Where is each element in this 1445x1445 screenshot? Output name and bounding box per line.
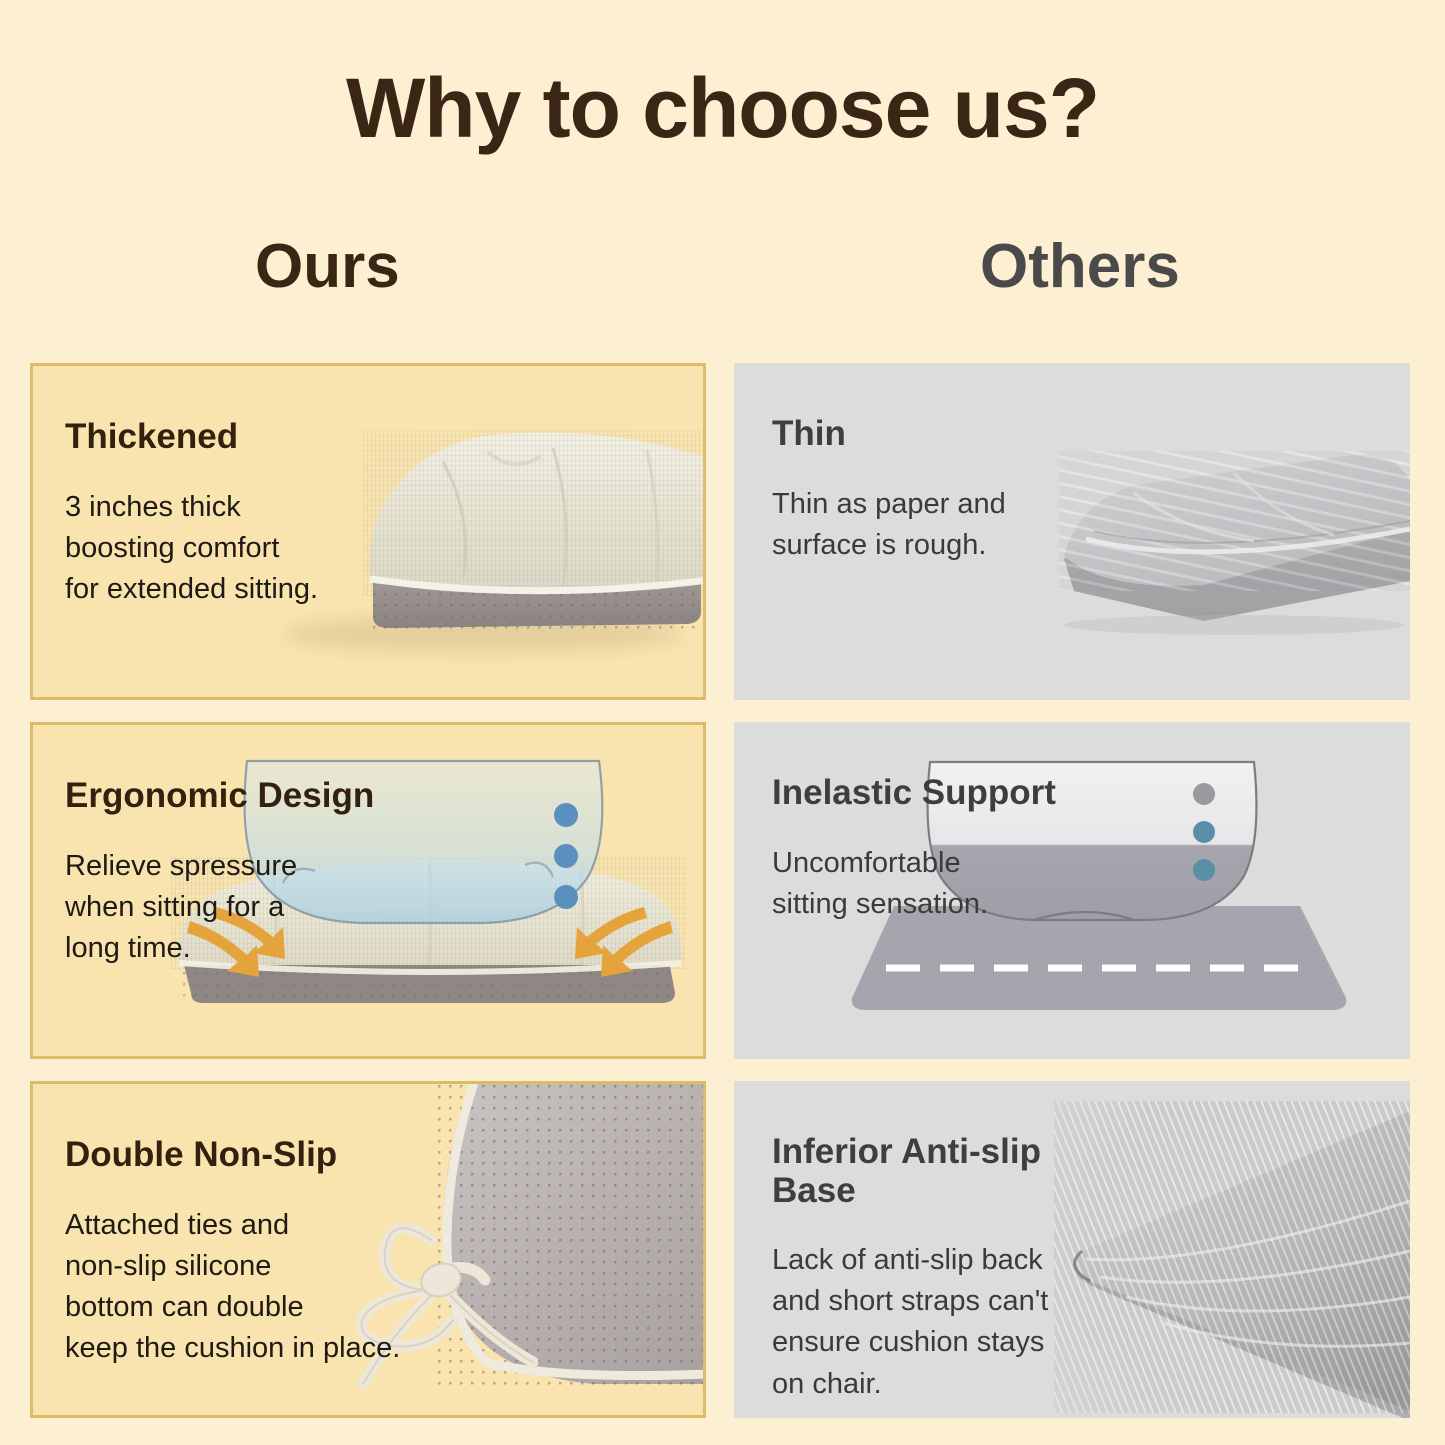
card-body: Thin as paper and surface is rough.: [772, 484, 1134, 566]
body-line: bottom can double: [65, 1287, 463, 1328]
column-header-others: Others: [980, 236, 1180, 298]
body-line: non-slip silicone: [65, 1246, 463, 1287]
card-text-block: Ergonomic Design Relieve spressure when …: [33, 725, 433, 969]
card-title: Thickened: [65, 418, 433, 457]
comparison-row-2: Ergonomic Design Relieve spressure when …: [30, 722, 1417, 1059]
comparison-row-1: Thickened 3 inches thick boosting comfor…: [30, 363, 1417, 700]
card-body: Attached ties and non-slip silicone bott…: [65, 1205, 463, 1370]
card-ours-thickened: Thickened 3 inches thick boosting comfor…: [30, 363, 706, 700]
card-others-inferior-base: Inferior Anti-slip Base Lack of anti-sli…: [734, 1081, 1410, 1418]
body-line: ensure cushion stays: [772, 1322, 1134, 1363]
card-others-inelastic: Inelastic Support Uncomfortable sitting …: [734, 722, 1410, 1059]
body-line: Attached ties and: [65, 1205, 463, 1246]
comparison-grid: Thickened 3 inches thick boosting comfor…: [30, 363, 1417, 1440]
card-title: Inelastic Support: [772, 774, 1134, 813]
card-body: Uncomfortable sitting sensation.: [772, 843, 1134, 925]
body-line: 3 inches thick: [65, 487, 433, 528]
card-body: 3 inches thick boosting comfort for exte…: [65, 487, 433, 611]
body-line: surface is rough.: [772, 525, 1134, 566]
card-ours-double-nonslip: Double Non-Slip Attached ties and non-sl…: [30, 1081, 706, 1418]
body-line: Lack of anti-slip back: [772, 1240, 1134, 1281]
card-ours-ergonomic: Ergonomic Design Relieve spressure when …: [30, 722, 706, 1059]
body-line: long time.: [65, 928, 433, 969]
card-title: Inferior Anti-slip Base: [772, 1133, 1134, 1210]
card-others-thin: Thin Thin as paper and surface is rough.: [734, 363, 1410, 700]
card-text-block: Thin Thin as paper and surface is rough.: [734, 363, 1134, 566]
body-line: Thin as paper and: [772, 484, 1134, 525]
card-text-block: Double Non-Slip Attached ties and non-sl…: [33, 1084, 463, 1369]
card-text-block: Inferior Anti-slip Base Lack of anti-sli…: [734, 1081, 1134, 1405]
page-title: Why to choose us?: [0, 66, 1445, 150]
body-line: boosting comfort: [65, 528, 433, 569]
body-line: and short straps can't: [772, 1281, 1134, 1322]
card-title: Ergonomic Design: [65, 777, 433, 816]
body-line: when sitting for a: [65, 887, 433, 928]
column-header-ours: Ours: [255, 236, 400, 298]
card-title: Thin: [772, 415, 1134, 454]
card-body: Relieve spressure when sitting for a lon…: [65, 846, 433, 970]
body-line: for extended sitting.: [65, 569, 433, 610]
card-body: Lack of anti-slip back and short straps …: [772, 1240, 1134, 1405]
body-line: Relieve spressure: [65, 846, 433, 887]
comparison-infographic: Why to choose us? Ours Others: [0, 0, 1445, 1445]
body-line: keep the cushion in place.: [65, 1328, 463, 1369]
body-line: Uncomfortable: [772, 843, 1134, 884]
comparison-row-3: Double Non-Slip Attached ties and non-sl…: [30, 1081, 1417, 1418]
body-line: on chair.: [772, 1364, 1134, 1405]
card-text-block: Inelastic Support Uncomfortable sitting …: [734, 722, 1134, 925]
card-text-block: Thickened 3 inches thick boosting comfor…: [33, 366, 433, 610]
card-title: Double Non-Slip: [65, 1136, 463, 1175]
body-line: sitting sensation.: [772, 884, 1134, 925]
